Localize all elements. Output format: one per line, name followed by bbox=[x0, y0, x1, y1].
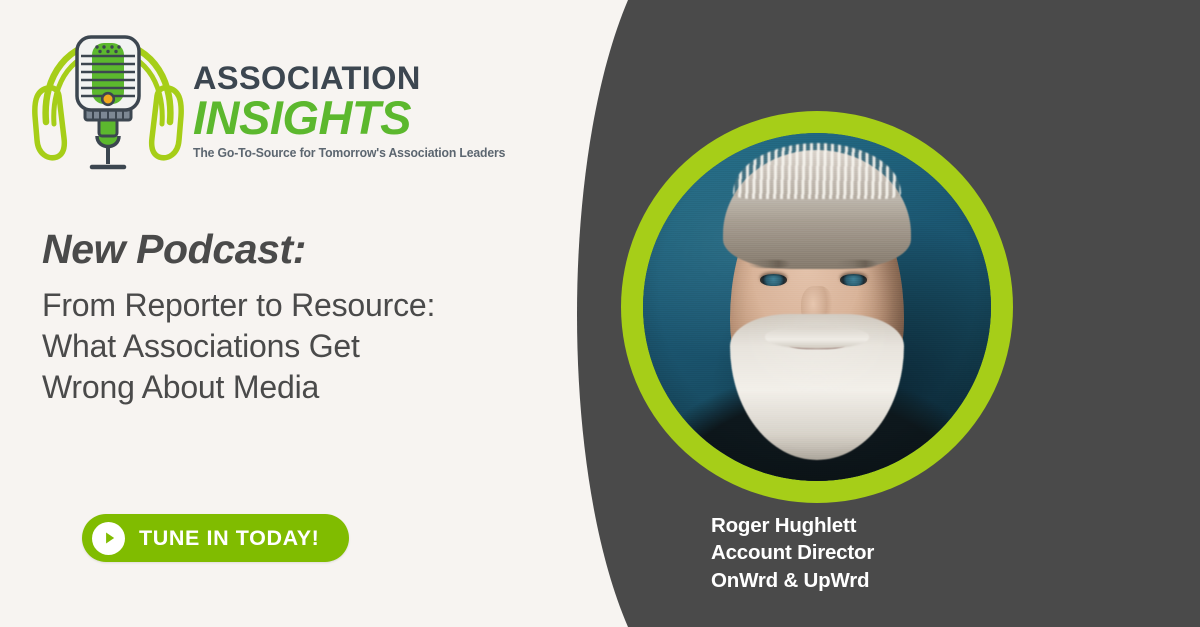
tune-in-today-button[interactable]: TUNE IN TODAY! bbox=[82, 514, 349, 562]
speaker-role: Account Director bbox=[711, 539, 1041, 566]
episode-title-line-2: What Associations Get bbox=[42, 326, 582, 367]
logo-tagline: The Go-To-Source for Tomorrow's Associat… bbox=[193, 146, 494, 160]
headline-block: New Podcast: From Reporter to Resource: … bbox=[42, 228, 582, 408]
speaker-name: Roger Hughlett bbox=[711, 512, 1041, 539]
headshot-vignette bbox=[643, 133, 991, 481]
association-insights-logo: ASSOCIATION INSIGHTS The Go-To-Source fo… bbox=[28, 18, 498, 178]
eyebrow-new-podcast: New Podcast: bbox=[42, 228, 582, 271]
portrait-green-ring bbox=[621, 111, 1013, 503]
play-circle-icon bbox=[92, 522, 125, 555]
promo-graphic: ASSOCIATION INSIGHTS The Go-To-Source fo… bbox=[0, 0, 1200, 627]
logo-line-insights: INSIGHTS bbox=[193, 94, 503, 142]
logo-line-association: ASSOCIATION bbox=[193, 62, 503, 95]
podcast-microphone-headphones-icon bbox=[28, 18, 188, 178]
tune-in-today-label: TUNE IN TODAY! bbox=[139, 526, 319, 551]
episode-title-line-3: Wrong About Media bbox=[42, 367, 582, 408]
speaker-company: OnWrd & UpWrd bbox=[711, 567, 1041, 594]
speaker-credit: Roger Hughlett Account Director OnWrd & … bbox=[711, 512, 1041, 594]
logo-wordmark: ASSOCIATION INSIGHTS The Go-To-Source fo… bbox=[193, 62, 503, 160]
speaker-headshot bbox=[643, 133, 991, 481]
episode-title-line-1: From Reporter to Resource: bbox=[42, 285, 582, 326]
